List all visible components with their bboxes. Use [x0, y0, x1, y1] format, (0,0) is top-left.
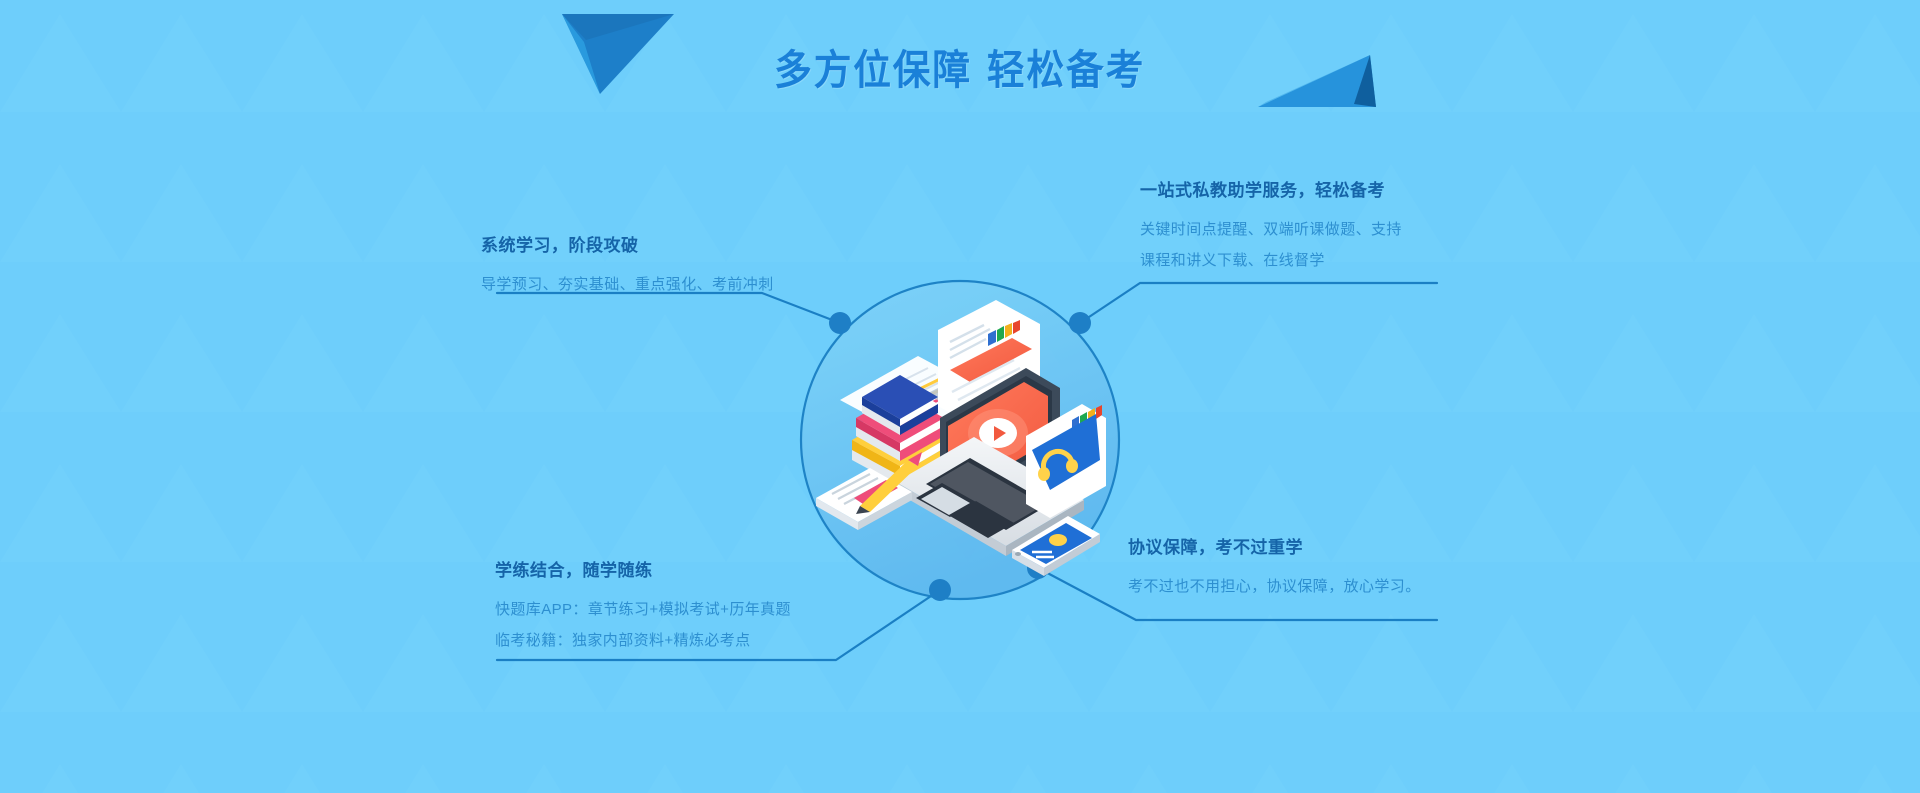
feature-line: 关键时间点提醒、双端听课做题、支持 [1140, 214, 1402, 245]
feature-heading: 一站式私教助学服务，轻松备考 [1140, 176, 1402, 201]
feature-line: 临考秘籍：独家内部资料+精炼必考点 [495, 625, 791, 656]
feature-block-bottom-left: 学练结合，随学随练 快题库APP：章节练习+模拟考试+历年真题 临考秘籍：独家内… [495, 556, 791, 656]
feature-block-top-left: 系统学习，阶段攻破 导学预习、夯实基础、重点强化、考前冲刺 [481, 231, 774, 300]
feature-line: 考不过也不用担心，协议保障，放心学习。 [1128, 571, 1421, 602]
feature-heading: 系统学习，阶段攻破 [481, 231, 774, 256]
feature-line: 课程和讲义下载、在线督学 [1140, 245, 1402, 276]
feature-line: 导学预习、夯实基础、重点强化、考前冲刺 [481, 269, 774, 300]
feature-line: 快题库APP：章节练习+模拟考试+历年真题 [495, 594, 791, 625]
isometric-online-learning-illustration [800, 300, 1120, 620]
feature-block-top-right: 一站式私教助学服务，轻松备考 关键时间点提醒、双端听课做题、支持 课程和讲义下载… [1140, 176, 1402, 276]
feature-block-bottom-right: 协议保障，考不过重学 考不过也不用担心，协议保障，放心学习。 [1128, 533, 1421, 602]
feature-heading: 学练结合，随学随练 [495, 556, 791, 581]
title-container: 多方位保障 轻松备考 [0, 36, 1920, 96]
page-title: 多方位保障 轻松备考 [774, 36, 1145, 96]
connector-top-right [1080, 283, 1437, 323]
feature-heading: 协议保障，考不过重学 [1128, 533, 1421, 558]
